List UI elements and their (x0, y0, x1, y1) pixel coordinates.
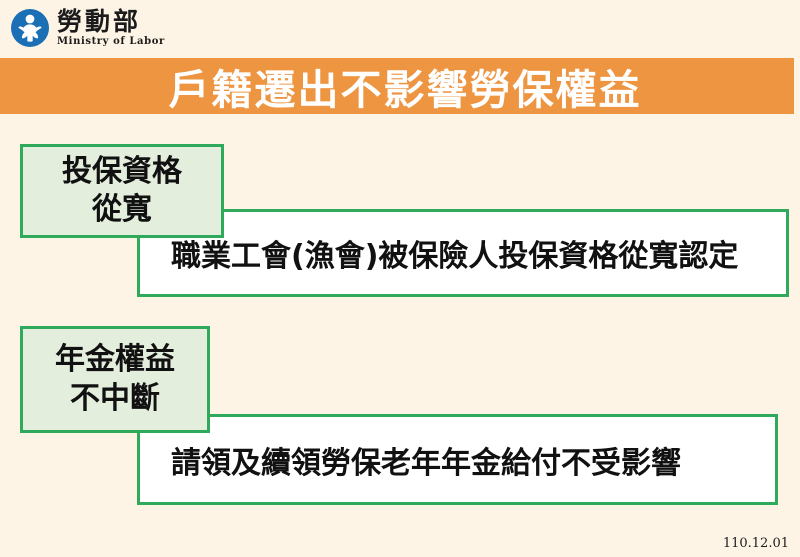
infographic-slide: 勞動部 Ministry of Labor 戶籍遷出不影響勞保權益 職業工會(漁… (0, 0, 800, 557)
detail-text-1: 職業工會(漁會)被保險人投保資格從寬認定 (171, 231, 738, 275)
label-line-1a: 投保資格 (62, 153, 182, 191)
brand-logo: 勞動部 Ministry of Labor (10, 8, 165, 48)
label-line-2b: 不中斷 (70, 380, 160, 418)
label-line-1b: 從寬 (92, 191, 152, 229)
detail-box-1: 職業工會(漁會)被保險人投保資格從寬認定 (137, 209, 789, 297)
brand-name-en: Ministry of Labor (57, 37, 165, 47)
label-box-2: 年金權益 不中斷 (20, 326, 210, 433)
label-box-1: 投保資格 從寬 (20, 144, 224, 238)
brand-name-zh: 勞動部 (57, 9, 165, 34)
detail-box-2: 請領及續領勞保老年年金給付不受影響 (137, 414, 778, 505)
brand-wordmark: 勞動部 Ministry of Labor (57, 9, 165, 47)
page-title: 戶籍遷出不影響勞保權益 (0, 56, 800, 116)
publish-date: 110.12.01 (723, 536, 789, 551)
ministry-of-labor-emblem-icon (10, 8, 50, 48)
label-line-2a: 年金權益 (55, 341, 175, 379)
detail-text-2: 請領及續領勞保老年年金給付不受影響 (171, 438, 681, 482)
